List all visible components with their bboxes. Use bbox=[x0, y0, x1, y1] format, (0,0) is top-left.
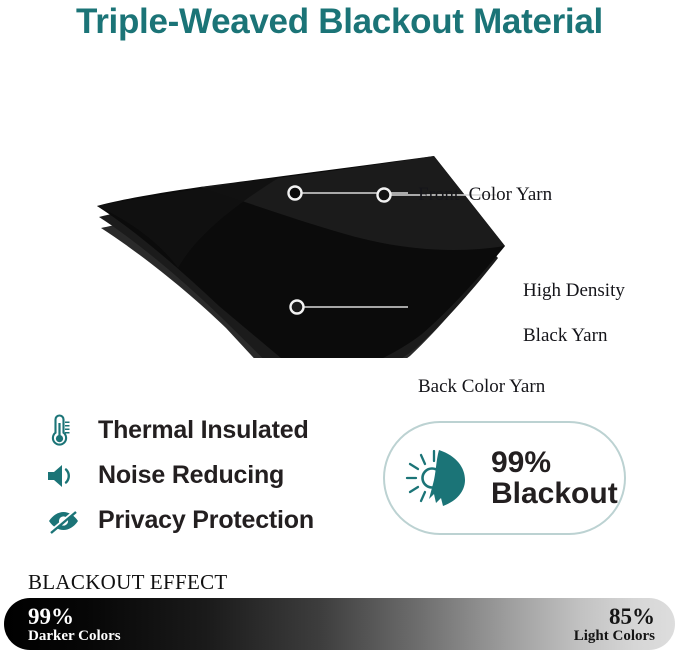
badge-word: Blackout bbox=[491, 478, 618, 509]
thermometer-icon bbox=[46, 412, 88, 450]
blackout-effect-right-block: 85% Light Colors bbox=[574, 605, 655, 645]
feature-label: Thermal Insulated bbox=[98, 416, 309, 445]
callout-label-back-color-yarn: Back Color Yarn bbox=[418, 376, 545, 398]
callout-marker-highdensity bbox=[378, 189, 391, 202]
eye-slash-icon bbox=[46, 502, 88, 540]
blackout-effect-heading: BLACKOUT EFFECT bbox=[28, 570, 228, 595]
badge-percent: 99% bbox=[491, 447, 618, 478]
feature-label: Privacy Protection bbox=[98, 506, 314, 535]
blackout-effect-left-percent: 99% bbox=[28, 605, 121, 629]
feature-label: Noise Reducing bbox=[98, 461, 284, 490]
blackout-effect-left-block: 99% Darker Colors bbox=[28, 605, 121, 645]
feature-list: Thermal Insulated Noise Reducing Privacy… bbox=[46, 408, 376, 543]
callout-label-line1: High Density bbox=[523, 280, 625, 301]
callout-marker-front bbox=[289, 187, 302, 200]
blackout-effect-right-percent: 85% bbox=[574, 605, 655, 629]
blackout-badge: 99% Blackout bbox=[383, 421, 626, 535]
blackout-effect-gradient-bar: 99% Darker Colors 85% Light Colors bbox=[4, 598, 675, 650]
feature-item-noise-reducing: Noise Reducing bbox=[46, 453, 376, 498]
feature-item-thermal-insulated: Thermal Insulated bbox=[46, 408, 376, 453]
badge-text-block: 99% Blackout bbox=[491, 447, 618, 509]
blackout-effect-right-label: Light Colors bbox=[574, 629, 655, 645]
sun-blocked-by-curtain-icon bbox=[401, 443, 485, 513]
callout-label-line2: Black Yarn bbox=[523, 325, 607, 346]
page-title: Triple-Weaved Blackout Material bbox=[0, 2, 679, 42]
callout-label-high-density-black-yarn: High Density Black Yarn bbox=[504, 258, 625, 370]
callout-marker-back bbox=[291, 301, 304, 314]
feature-item-privacy-protection: Privacy Protection bbox=[46, 498, 376, 543]
blackout-effect-left-label: Darker Colors bbox=[28, 629, 121, 645]
fabric-layers-diagram: Front Color Yarn High Density Black Yarn… bbox=[0, 78, 679, 358]
speaker-sound-icon bbox=[46, 457, 88, 495]
callout-label-front-color-yarn: Front Color Yarn bbox=[418, 184, 552, 206]
